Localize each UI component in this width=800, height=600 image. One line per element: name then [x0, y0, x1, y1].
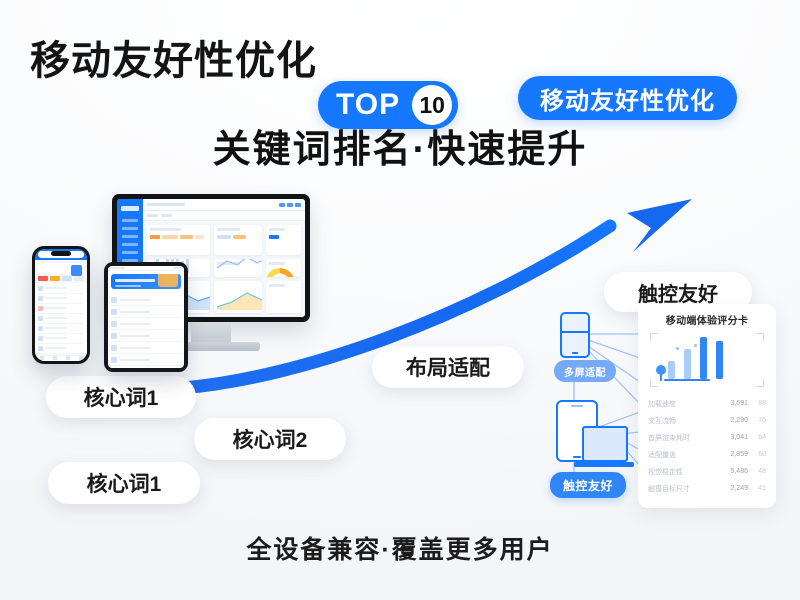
page-subtitle: 关键词排名·快速提升 — [0, 118, 800, 173]
score-row: 交互流畅 2,290 76 — [648, 412, 766, 429]
device-network-diagram: 多屏适配 触控友好 移动端体验评分卡 — [540, 300, 780, 512]
score-row: 适配覆盖 2,859 60 — [648, 446, 766, 463]
score-row-delta: 64 — [748, 434, 766, 441]
score-row: 触摸目标尺寸 2,249 41 — [648, 480, 766, 497]
dashboard-line-chart — [214, 259, 262, 277]
score-row-delta: 76 — [748, 417, 766, 424]
dashboard-area-chart-2 — [214, 281, 262, 313]
phone-list — [35, 283, 87, 355]
dashboard-donut-chart — [266, 259, 301, 277]
page-title: 移动友好性优化 — [30, 28, 317, 86]
score-row-value: 2,290 — [722, 417, 748, 424]
score-row: 首屏渲染耗时 3,041 64 — [648, 429, 766, 446]
dashboard-topbar — [143, 199, 305, 211]
score-row-name: 交互流畅 — [648, 416, 722, 426]
tablet-list — [108, 292, 184, 368]
score-row-value: 3,691 — [722, 400, 748, 407]
dashboard-side-card — [266, 225, 301, 255]
header-row: 移动友好性优化 TOP 10 移动友好性优化 — [0, 26, 800, 102]
score-row-delta: 60 — [748, 451, 766, 458]
diagram-small-phone-icon — [560, 312, 590, 358]
score-card-title: 移动端体验评分卡 — [648, 312, 766, 327]
score-row-value: 5,486 — [722, 468, 748, 475]
mobile-experience-score-card: 移动端体验评分卡 加载速度 — [638, 304, 776, 508]
score-row-value: 3,041 — [722, 434, 748, 441]
score-row-name: 视觉稳定性 — [648, 467, 722, 477]
tablet-mockup — [104, 262, 188, 372]
dashboard-filter-card — [147, 225, 210, 255]
score-row: 视觉稳定性 5,486 48 — [648, 463, 766, 480]
score-card-chart — [650, 333, 764, 387]
phone-notch — [51, 251, 71, 256]
score-row-value: 2,249 — [722, 485, 748, 492]
score-row-delta: 41 — [748, 485, 766, 492]
keyword-pill-2: 核心词2 — [194, 418, 346, 460]
dashboard-misc-card — [266, 281, 301, 313]
callout-layout-adaptation: 布局适配 — [372, 346, 524, 388]
dashboard-stat-card — [214, 225, 262, 255]
dashboard-subbar — [143, 211, 305, 221]
poster-canvas: 移动友好性优化 TOP 10 移动友好性优化 关键词排名·快速提升 核心词1 核… — [0, 0, 800, 600]
score-row-delta: 98 — [748, 400, 766, 407]
score-row-name: 适配覆盖 — [648, 450, 722, 460]
keyword-pill-1: 核心词1 — [46, 376, 196, 418]
device-mockups — [22, 186, 352, 386]
diagram-tag-multiscreen: 多屏适配 — [554, 360, 616, 382]
footer-tagline: 全设备兼容·覆盖更多用户 — [0, 530, 800, 566]
score-row-delta: 48 — [748, 468, 766, 475]
diagram-tag-touch: 触控友好 — [550, 472, 626, 498]
diagram-laptop-icon — [582, 426, 628, 462]
phone-tabbar — [35, 355, 87, 361]
header-blue-pill: 移动友好性优化 — [518, 76, 737, 120]
keyword-pill-3: 核心词1 — [48, 462, 200, 504]
phone-mockup — [32, 246, 90, 364]
top-badge-word: TOP — [336, 90, 412, 120]
phone-feature-card — [38, 263, 84, 273]
score-row-name: 加载速度 — [648, 399, 722, 409]
score-card-rows: 加载速度 3,691 98 交互流畅 2,290 76 首屏渲染耗时 3,041… — [648, 395, 766, 497]
tablet-banner — [111, 274, 181, 289]
score-row-name: 触摸目标尺寸 — [648, 484, 722, 494]
monitor-stand-neck — [191, 322, 231, 344]
phone-tag-row — [35, 276, 87, 283]
score-row: 加载速度 3,691 98 — [648, 395, 766, 412]
score-row-value: 2,859 — [722, 451, 748, 458]
score-row-name: 首屏渲染耗时 — [648, 433, 722, 443]
